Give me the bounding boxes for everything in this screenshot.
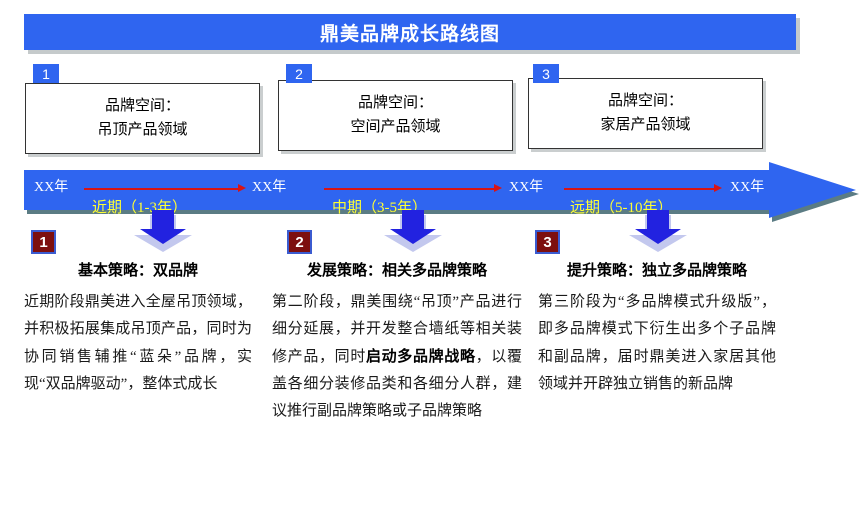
timeline-connector-arrow-2	[324, 184, 502, 193]
strategy-heading-3: 提升策略：独立多品牌策略	[538, 259, 776, 280]
brand-space-box-1-line1: 品牌空间：	[105, 95, 180, 118]
stage-down-arrow-3	[629, 210, 687, 252]
stage-down-arrow-1	[134, 210, 192, 252]
timeline-connector-head-2	[494, 184, 502, 192]
brand-space-box-3: 品牌空间： 家居产品领域	[528, 78, 763, 149]
strategy-body-2: 第二阶段，鼎美围绕“吊顶”产品进行细分延展，并开发整合墙纸等相关装修产品，同时启…	[272, 289, 522, 425]
strategy-heading-1: 基本策略：双品牌	[24, 259, 252, 280]
timeline-year-3: XX年	[509, 176, 543, 196]
stage-badge-top-1: 1	[33, 64, 59, 83]
brand-space-box-2: 品牌空间： 空间产品领域	[278, 80, 513, 151]
strategy-badge-1: 1	[31, 230, 56, 254]
timeline-connector-arrow-1	[84, 184, 246, 193]
timeline-year-2: XX年	[252, 176, 286, 196]
brand-space-box-3-line1: 品牌空间：	[608, 90, 683, 113]
brand-space-box-2-line2: 空间产品领域	[350, 116, 440, 139]
strategy-body-1: 近期阶段鼎美进入全屋吊顶领域，并积极拓展集成吊顶产品，同时为协同销售辅推“蓝朵”…	[24, 289, 252, 398]
strategy-badge-3: 3	[535, 230, 560, 254]
stage-badge-top-3: 3	[533, 64, 559, 83]
strategy-badge-2: 2	[287, 230, 312, 254]
page-title: 鼎美品牌成长路线图	[320, 19, 500, 46]
brand-space-box-2-line1: 品牌空间：	[358, 92, 433, 115]
timeline-year-4: XX年	[730, 176, 764, 196]
timeline-connector-line-3	[564, 188, 715, 190]
timeline-connector-line-2	[324, 188, 495, 190]
strategy-body-3: 第三阶段为“多品牌模式升级版”，即多品牌模式下衍生出多个子品牌和副品牌，届时鼎美…	[538, 289, 776, 398]
stage-down-arrow-2	[384, 210, 442, 252]
brand-space-box-1: 品牌空间： 吊顶产品领域	[25, 83, 260, 154]
strategy-column-2: 发展策略：相关多品牌策略 第二阶段，鼎美围绕“吊顶”产品进行细分延展，并开发整合…	[272, 259, 522, 425]
strategy-column-1: 基本策略：双品牌 近期阶段鼎美进入全屋吊顶领域，并积极拓展集成吊顶产品，同时为协…	[24, 259, 252, 398]
stage-badge-top-2: 2	[286, 64, 312, 83]
timeline-connector-arrow-3	[564, 184, 722, 193]
timeline-connector-line-1	[84, 188, 239, 190]
strategy-column-3: 提升策略：独立多品牌策略 第三阶段为“多品牌模式升级版”，即多品牌模式下衍生出多…	[538, 259, 776, 398]
timeline-year-1: XX年	[34, 176, 68, 196]
brand-space-box-1-line2: 吊顶产品领域	[97, 119, 187, 142]
timeline-connector-head-3	[714, 184, 722, 192]
timeline-connector-head-1	[238, 184, 246, 192]
page-title-banner: 鼎美品牌成长路线图	[24, 14, 796, 50]
brand-space-box-3-line2: 家居产品领域	[600, 114, 690, 137]
strategy-heading-2: 发展策略：相关多品牌策略	[272, 259, 522, 280]
